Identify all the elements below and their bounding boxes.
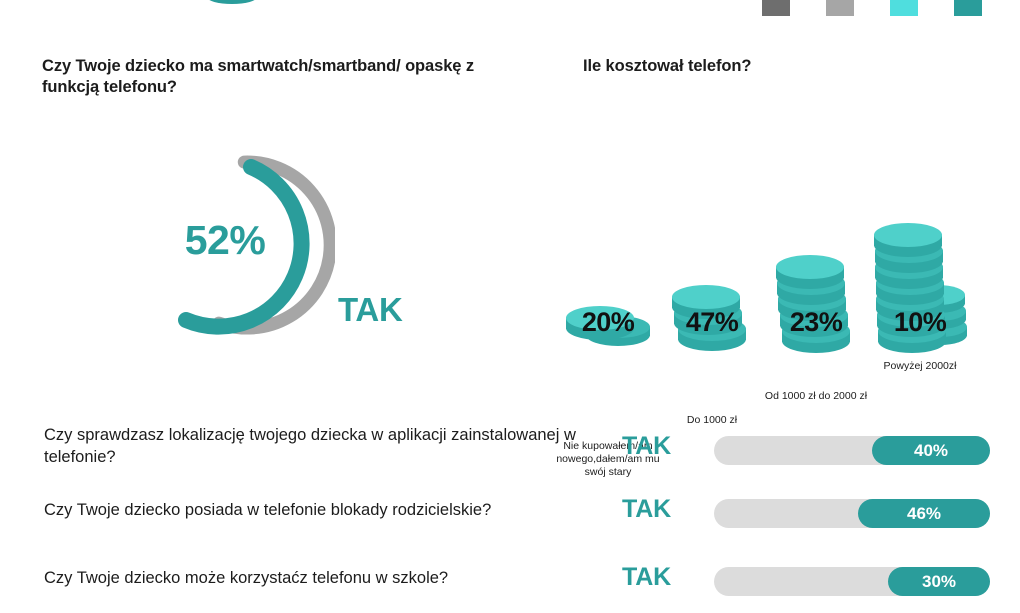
swatch-teal	[954, 0, 982, 16]
swatch-cyan	[890, 0, 918, 16]
question-row-1: Czy Twoje dziecko posiada w telefonie bl…	[0, 486, 1020, 546]
legend-swatch-row	[762, 0, 982, 16]
coin-value-3: 10%	[868, 307, 972, 338]
coin-value-1: 47%	[660, 307, 764, 338]
section-heading-smartwatch: Czy Twoje dziecko ma smartwatch/smartban…	[42, 56, 522, 98]
donut-chart-smartwatch: 52%	[105, 138, 335, 343]
question-yes-label-1: TAK	[622, 495, 671, 524]
question-bar-track-2: 30%	[714, 567, 990, 596]
question-bar-fill-2: 30%	[888, 567, 990, 596]
coin-value-0: 20%	[556, 307, 660, 338]
section-heading-phone-cost: Ile kosztował telefon?	[583, 56, 983, 77]
donut-value-label: 52%	[105, 138, 335, 343]
question-text-1: Czy Twoje dziecko posiada w telefonie bl…	[44, 500, 604, 522]
donut-yes-label: TAK	[338, 291, 402, 329]
question-bar-track-0: 40%	[714, 436, 990, 465]
question-text-0: Czy sprawdzasz lokalizację twojego dziec…	[44, 425, 604, 469]
swatch-light-gray	[826, 0, 854, 16]
question-bar-fill-1: 46%	[858, 499, 990, 528]
coin-value-2: 23%	[764, 307, 868, 338]
swatch-dark-gray	[762, 0, 790, 16]
question-yes-label-2: TAK	[622, 563, 671, 592]
question-bar-track-1: 46%	[714, 499, 990, 528]
question-row-2: Czy Twoje dziecko może korzystaćz telefo…	[0, 553, 1020, 613]
question-row-0: Czy sprawdzasz lokalizację twojego dziec…	[0, 418, 1020, 478]
top-teal-sliver	[207, 0, 257, 4]
question-text-2: Czy Twoje dziecko może korzystaćz telefo…	[44, 568, 604, 590]
coin-value-row: 20% 47% 23% 10%	[556, 307, 1006, 347]
question-yes-label-0: TAK	[622, 432, 671, 461]
question-bar-fill-0: 40%	[872, 436, 990, 465]
coin-caption-2: Od 1000 zł do 2000 zł	[764, 390, 868, 403]
coin-caption-3: Powyżej 2000zł	[868, 360, 972, 373]
